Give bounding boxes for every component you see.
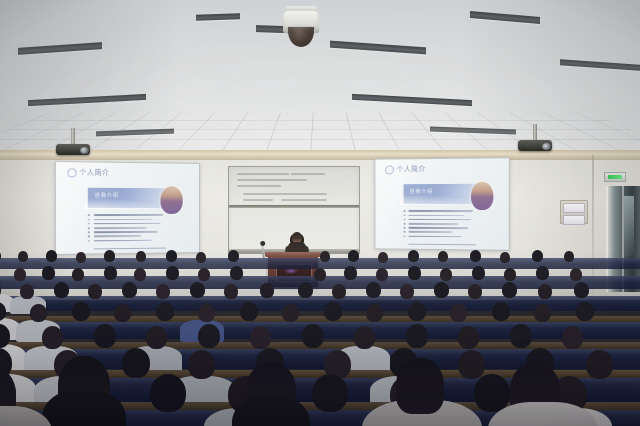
- student-head: [502, 282, 517, 298]
- student-head: [198, 304, 215, 322]
- student-head: [250, 326, 271, 349]
- student-head: [122, 282, 137, 298]
- student-head: [54, 282, 69, 298]
- student-head: [136, 251, 146, 262]
- student-head: [314, 268, 326, 281]
- wall-panel-plate-2[interactable]: [563, 215, 585, 225]
- exit-sign-glyph: [608, 175, 622, 179]
- student-head: [282, 304, 299, 322]
- student-head: [72, 302, 90, 321]
- student-head: [470, 250, 481, 262]
- lecture-hall-photo: 个人简介 自我介绍 个人简介 自我介绍: [0, 0, 640, 426]
- student-head: [94, 324, 116, 348]
- student-head: [114, 304, 131, 322]
- student-head: [240, 302, 258, 321]
- student-head: [458, 350, 485, 379]
- student-head: [440, 268, 452, 281]
- student-head: [156, 284, 170, 299]
- student-head: [196, 252, 206, 263]
- student-head: [438, 251, 448, 262]
- student-head: [536, 266, 549, 280]
- whiteboard-writing: [281, 199, 327, 201]
- projector-lens-icon: [542, 143, 551, 150]
- student-head: [104, 250, 115, 262]
- student-head: [570, 268, 582, 281]
- student-head: [312, 374, 348, 412]
- projector-left: [56, 128, 90, 158]
- whiteboard-writing: [237, 173, 289, 175]
- whiteboard-writing: [237, 185, 281, 187]
- student-head: [190, 282, 205, 298]
- student-head: [260, 283, 274, 298]
- screen-frame: [374, 157, 509, 251]
- student-head: [14, 268, 26, 281]
- student-head: [366, 282, 381, 298]
- exit-sign-icon: [604, 172, 626, 182]
- student-head: [510, 324, 532, 348]
- student-head: [504, 268, 516, 281]
- whiteboard-divider: [229, 205, 359, 208]
- student-head: [146, 326, 167, 349]
- student-head: [472, 266, 485, 280]
- wall-panel-plate-1[interactable]: [563, 203, 585, 213]
- projection-screen-left: 个人简介 自我介绍: [55, 161, 200, 255]
- student-head: [198, 324, 220, 348]
- student-head: [468, 284, 482, 299]
- student-hair-fall: [42, 390, 126, 426]
- whiteboard-writing: [243, 199, 273, 201]
- camera-dome-lens: [288, 27, 314, 47]
- student-head: [434, 282, 449, 298]
- student-head: [408, 250, 419, 262]
- student-head: [166, 250, 177, 262]
- student-head: [150, 374, 186, 412]
- student-head: [378, 252, 388, 263]
- security-camera-icon: [282, 6, 320, 54]
- student-head: [46, 250, 57, 262]
- student-head: [20, 284, 34, 299]
- student-head: [134, 268, 146, 281]
- student-head: [104, 266, 117, 280]
- student-head: [474, 374, 510, 412]
- whiteboard-writing: [237, 179, 307, 181]
- student-head: [30, 304, 47, 322]
- projector-right: [518, 124, 552, 154]
- student-head: [408, 302, 426, 321]
- student-head: [586, 350, 613, 379]
- student-head: [562, 326, 583, 349]
- student-head: [532, 250, 543, 262]
- student-head: [450, 304, 467, 322]
- student-head: [320, 251, 330, 262]
- door-glass: [624, 196, 634, 256]
- audience-area: [0, 250, 640, 426]
- student-head: [166, 266, 179, 280]
- student-head: [298, 282, 313, 298]
- student-head: [538, 284, 552, 299]
- wall-control-panel[interactable]: [560, 200, 588, 224]
- student-head: [88, 284, 102, 299]
- student-head: [400, 284, 414, 299]
- student-head: [396, 358, 444, 414]
- student-head: [534, 304, 551, 322]
- student-head: [156, 302, 174, 321]
- student-head: [224, 284, 238, 299]
- student-head: [458, 326, 479, 349]
- student-head: [344, 266, 357, 280]
- screen-frame: [55, 161, 200, 255]
- student-head: [188, 350, 215, 379]
- student-head: [406, 324, 428, 348]
- student-head: [574, 282, 589, 298]
- student-head: [228, 250, 239, 262]
- student-head: [348, 250, 359, 262]
- student-head: [366, 304, 383, 322]
- student-head: [72, 268, 84, 281]
- student-head: [198, 268, 210, 281]
- student-head: [122, 348, 150, 378]
- projector-lens-icon: [80, 147, 89, 154]
- student-head: [230, 266, 243, 280]
- projection-screen-right: 个人简介 自我介绍: [374, 157, 509, 251]
- student-head: [354, 326, 375, 349]
- student-head: [76, 252, 86, 263]
- student-head: [492, 302, 510, 321]
- student-head: [408, 266, 421, 280]
- student-head: [324, 302, 342, 321]
- student-head: [42, 266, 55, 280]
- student-head: [42, 326, 63, 349]
- student-head: [576, 302, 594, 321]
- student-head: [500, 252, 510, 263]
- student-head: [302, 324, 324, 348]
- whiteboard-writing: [291, 173, 325, 175]
- whiteboard-writing: [243, 193, 327, 195]
- student-head: [564, 251, 574, 262]
- student-head: [376, 268, 388, 281]
- student-head: [332, 284, 346, 299]
- student-head: [18, 251, 28, 262]
